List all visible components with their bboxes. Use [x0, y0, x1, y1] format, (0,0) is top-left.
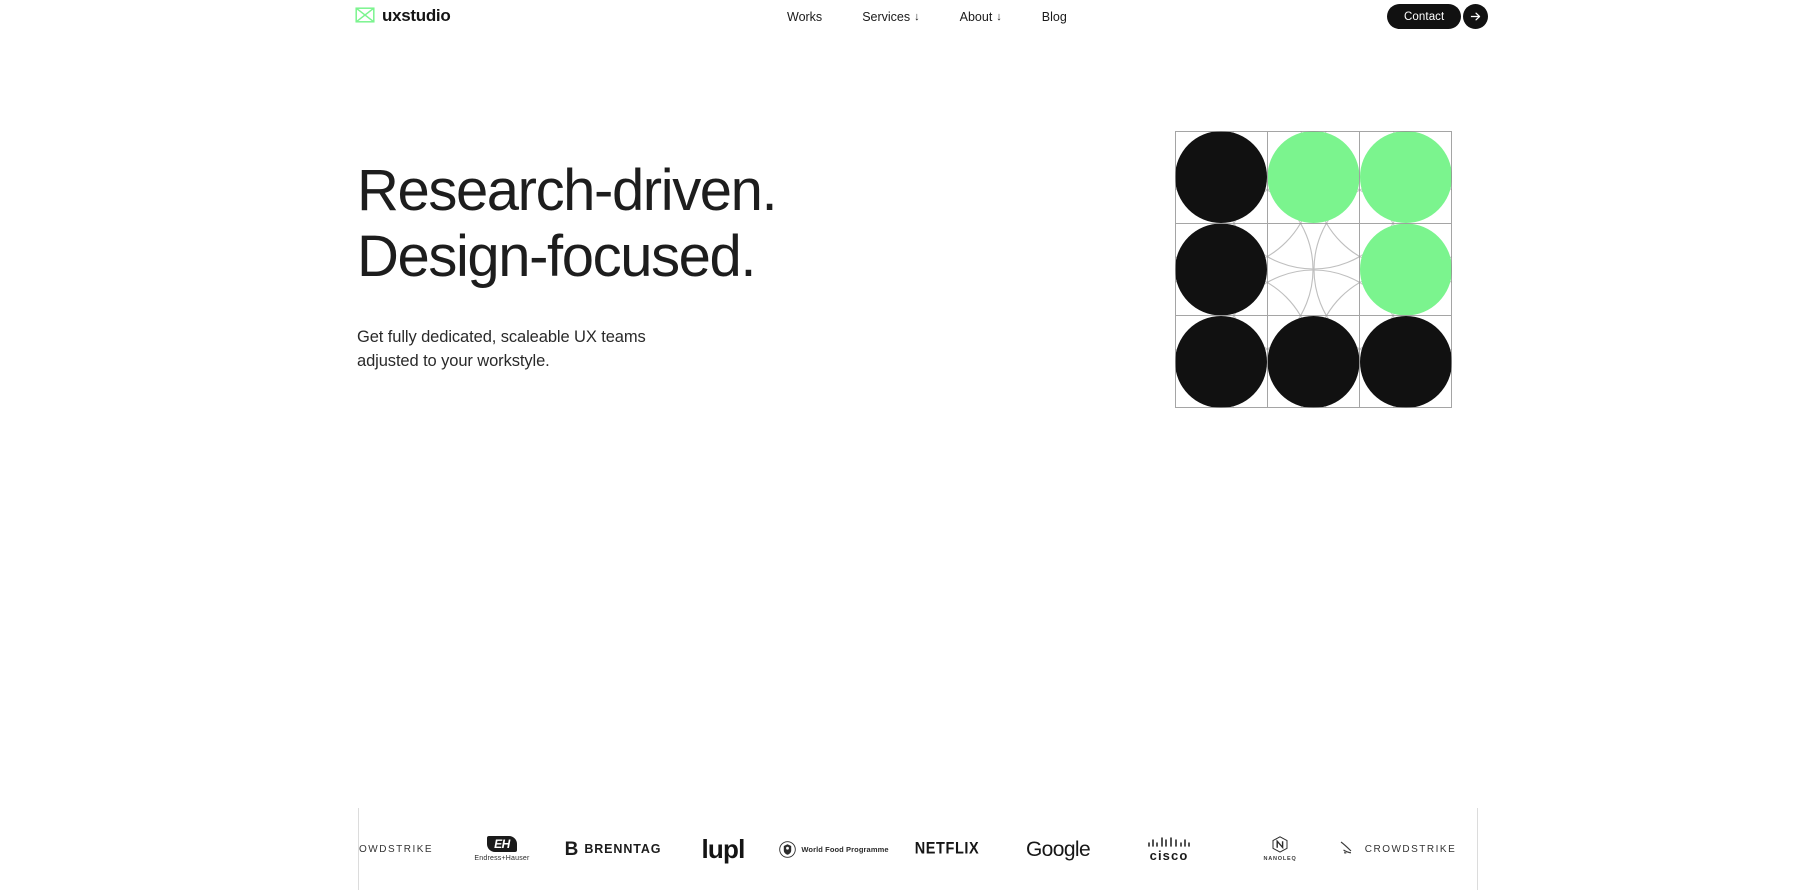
contact-button[interactable]: Contact [1387, 4, 1461, 29]
nanoleq-mark-icon [1272, 836, 1288, 853]
lupl-label: lupl [701, 836, 744, 862]
brand-logo-link[interactable]: uxstudio [355, 5, 450, 25]
crowdstrike-2-label: CROWDSTRIKE [1365, 844, 1457, 855]
client-logo-endress-hauser-2: EH Endress+Hauser [1461, 808, 1478, 890]
nav-label-blog: Blog [1042, 11, 1067, 24]
eh-mark: EH [487, 836, 517, 853]
grid-circle-6 [1175, 316, 1267, 408]
grid-circle-7 [1268, 316, 1360, 408]
brand-name: uxstudio [382, 7, 450, 24]
nav-label-about: About [960, 11, 993, 24]
brenntag-label: BRENNTAG [584, 842, 661, 856]
grid-circle-5 [1360, 224, 1452, 316]
nav-item-blog[interactable]: Blog [1022, 11, 1087, 24]
grid-circle-8 [1360, 316, 1452, 408]
grid-circle-1 [1268, 131, 1360, 223]
nav-item-services[interactable]: Services ↓ [842, 11, 939, 24]
client-logo-world-food-programme: World Food Programme [777, 808, 891, 890]
client-logo-cisco: cisco [1113, 808, 1225, 890]
wfp-seal-icon [779, 841, 796, 858]
grid-circle-3 [1175, 224, 1267, 316]
google-label: Google [1026, 839, 1090, 860]
landing-page: uxstudio Works Services ↓ About ↓ Blog C… [0, 0, 1800, 890]
client-logo-netflix: NETFLIX [891, 808, 1003, 890]
wfp-label: World Food Programme [801, 845, 888, 854]
client-logo-crowdstrike: OWDSTRIKE [359, 808, 447, 890]
nav-item-works[interactable]: Works [787, 11, 842, 24]
contact-arrow-button[interactable] [1463, 4, 1488, 29]
cisco-bars-icon [1147, 836, 1191, 848]
netflix-label: NETFLIX [915, 840, 980, 858]
nanoleq-label: NANOLEQ [1263, 856, 1296, 862]
arrow-down-icon: ↓ [996, 12, 1002, 23]
circle-grid-graphic [1175, 131, 1452, 408]
client-logo-google: Google [1003, 808, 1113, 890]
arrow-down-icon: ↓ [914, 12, 920, 23]
grid-circle-0 [1175, 131, 1267, 223]
client-logo-nanoleq: NANOLEQ [1225, 808, 1335, 890]
main-navigation: Works Services ↓ About ↓ Blog [787, 11, 1087, 24]
grid-circle-2 [1360, 131, 1452, 223]
hero-subtitle: Get fully dedicated, scaleable UX teams … [357, 326, 776, 374]
nav-label-services: Services [862, 11, 910, 24]
client-logo-endress-hauser: EH Endress+Hauser [447, 808, 557, 890]
crowdstrike-label: OWDSTRIKE [359, 844, 433, 855]
eh-sublabel: Endress+Hauser [474, 855, 529, 862]
site-header: uxstudio Works Services ↓ About ↓ Blog C… [0, 0, 1800, 36]
cisco-label: cisco [1150, 849, 1189, 862]
crowdstrike-falcon-icon [1340, 841, 1360, 857]
crossed-square-icon [355, 5, 375, 25]
nav-label-works: Works [787, 11, 822, 24]
nav-item-about[interactable]: About ↓ [940, 11, 1022, 24]
hero-copy: Research-driven. Design-focused. Get ful… [357, 158, 776, 374]
header-actions: Contact [1387, 4, 1800, 29]
client-logo-brenntag: B BRENNTAG [557, 808, 669, 890]
client-logo-lupl: lupl [669, 808, 777, 890]
client-logo-strip: OWDSTRIKE EH Endress+Hauser B BRENNTAG l… [358, 808, 1478, 890]
arrow-right-icon [1470, 11, 1481, 22]
page-title: Research-driven. Design-focused. [357, 158, 776, 290]
client-logo-crowdstrike-2: CROWDSTRIKE [1335, 808, 1461, 890]
brenntag-mark: B [565, 840, 579, 859]
